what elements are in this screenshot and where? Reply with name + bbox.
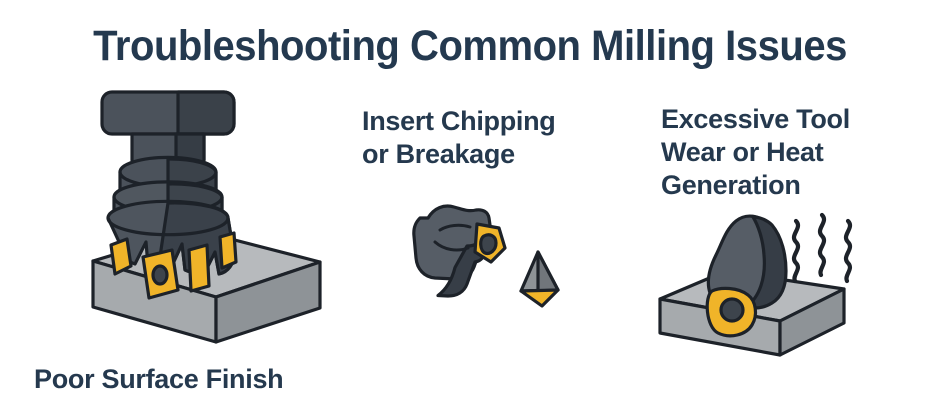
illustration-turning-tool-with-heat-waves: [648, 205, 898, 365]
cutter-shank: [102, 92, 234, 134]
heading-line-2: Wear or Heat: [661, 136, 906, 169]
heading-line-3: Generation: [661, 169, 906, 202]
panel-heading-insert-chipping-or-breakage: Insert Chipping or Breakage: [362, 105, 612, 171]
illustration-face-mill-cutter-on-workpiece: [48, 90, 338, 365]
infographic-canvas: Troubleshooting Common Milling Issues: [0, 0, 940, 409]
heat-wave-3: [846, 221, 850, 281]
heading-line-1: Insert Chipping: [362, 105, 612, 138]
page-title: Troubleshooting Common Milling Issues: [33, 22, 907, 70]
heading-line-1: Excessive Tool: [661, 103, 906, 136]
illustration-broken-insert-with-chip-fragment: [395, 190, 580, 320]
insert-gold-corner: [475, 224, 505, 262]
heat-wave-icons: [794, 215, 850, 281]
chip-fragment: [521, 252, 558, 306]
heat-wave-1: [794, 221, 798, 281]
heading-line-2: or Breakage: [362, 138, 612, 171]
heat-wave-2: [820, 215, 824, 275]
panel-caption-poor-surface-finish: Poor Surface Finish: [34, 363, 354, 395]
insert-gold-cutting-tip: [707, 288, 755, 335]
panel-heading-excessive-tool-wear-or-heat-generation: Excessive Tool Wear or Heat Generation: [661, 103, 906, 202]
